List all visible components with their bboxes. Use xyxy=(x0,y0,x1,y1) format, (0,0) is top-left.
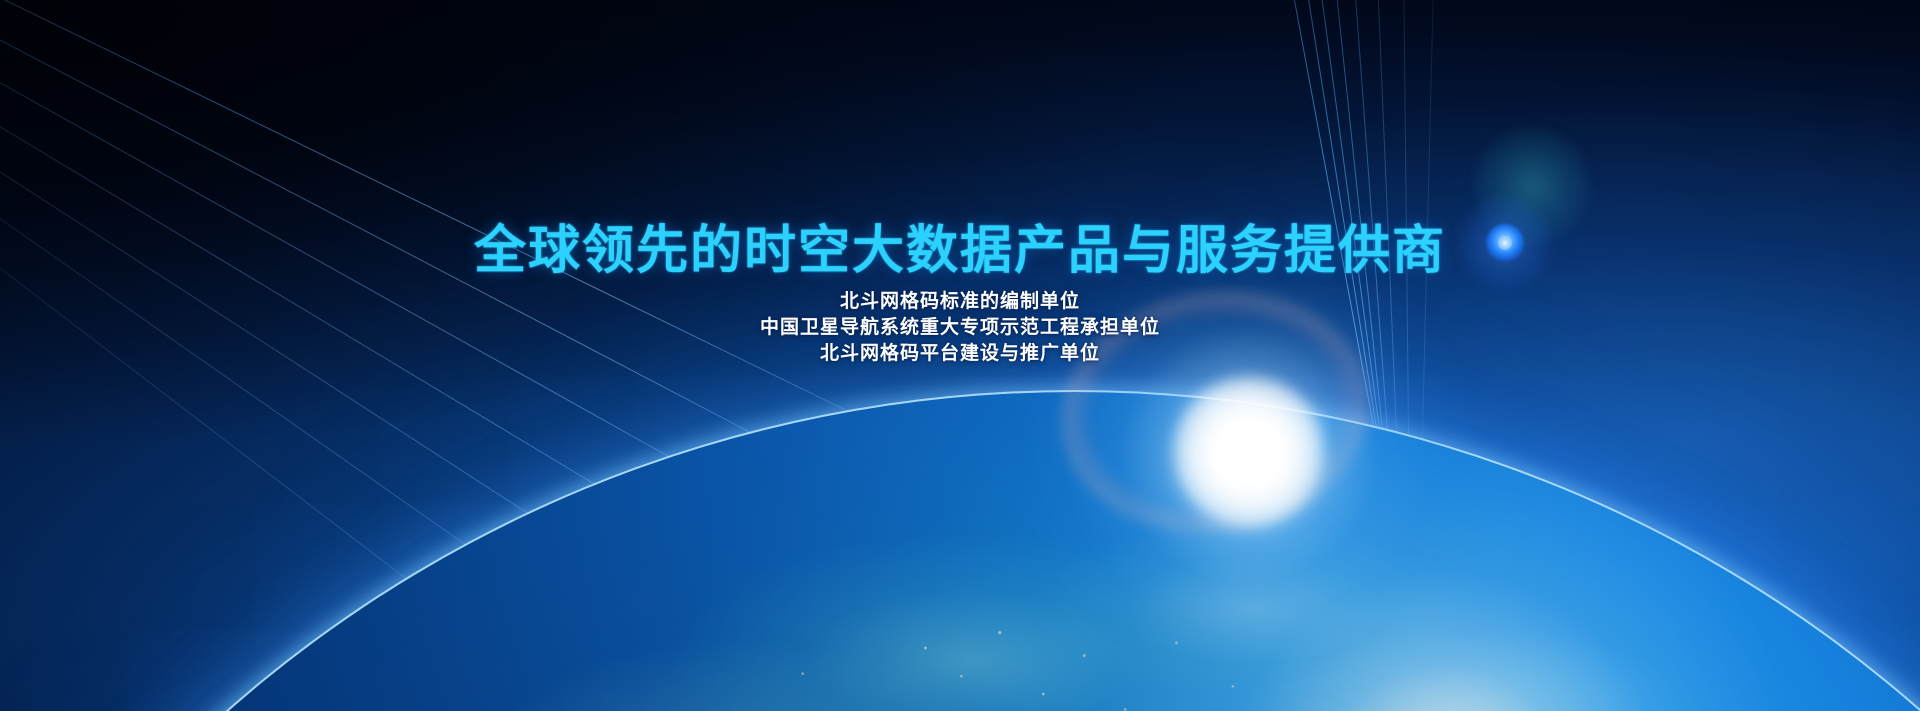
subtitle-list: 北斗网格码标准的编制单位 中国卫星导航系统重大专项示范工程承担单位 北斗网格码平… xyxy=(0,289,1920,367)
sun-flare-core xyxy=(1174,377,1324,527)
subtitle-line-2: 中国卫星导航系统重大专项示范工程承担单位 xyxy=(0,315,1920,341)
subtitle-line-1: 北斗网格码标准的编制单位 xyxy=(0,289,1920,315)
hero-banner: 全球领先的时空大数据产品与服务提供商 北斗网格码标准的编制单位 中国卫星导航系统… xyxy=(0,0,1920,711)
page-title: 全球领先的时空大数据产品与服务提供商 xyxy=(0,208,1920,283)
subtitle-line-3: 北斗网格码平台建设与推广单位 xyxy=(0,341,1920,367)
